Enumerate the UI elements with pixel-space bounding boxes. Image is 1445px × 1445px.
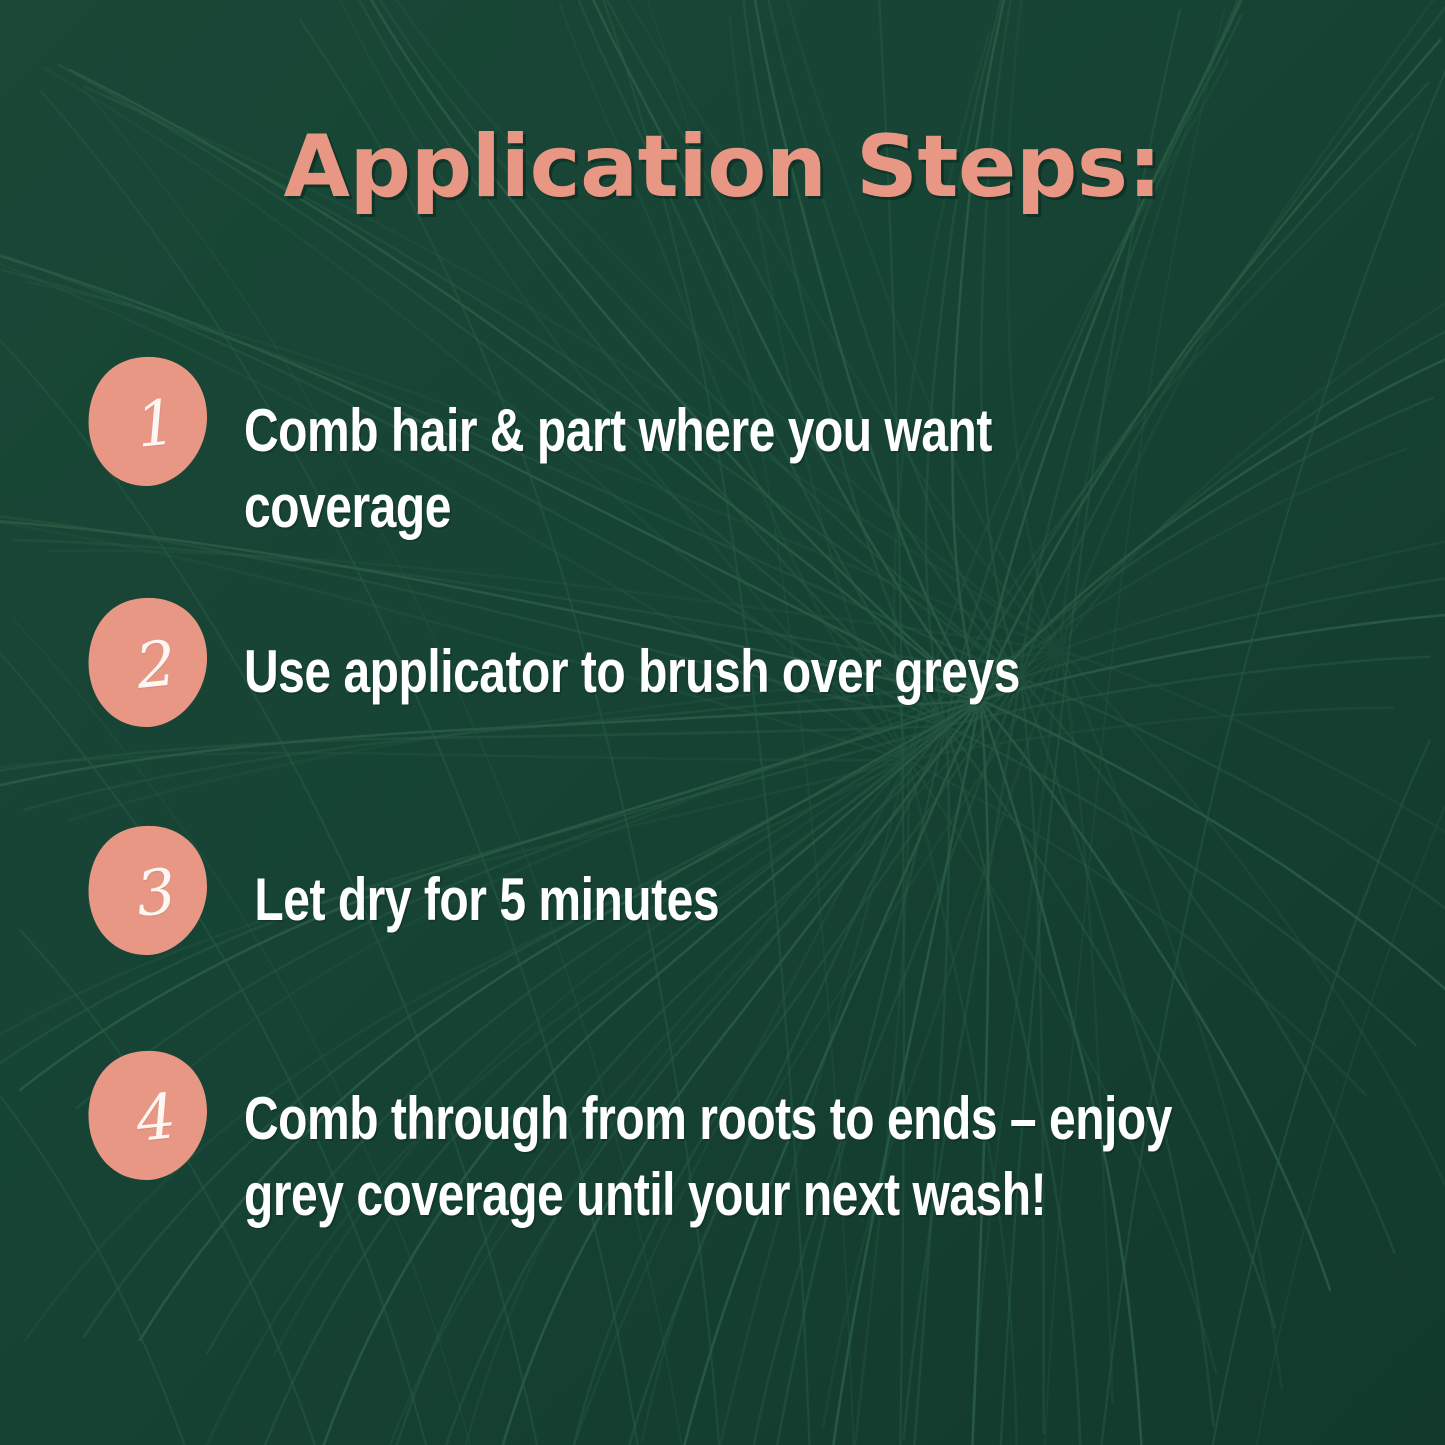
- steps-list: 1 Comb hair & part where you want covera…: [0, 0, 1445, 1445]
- step-item-1: 1 Comb hair & part where you want covera…: [86, 355, 1406, 544]
- step-number-3: 3: [87, 820, 224, 964]
- step-text-3: Let dry for 5 minutes: [244, 824, 1174, 938]
- step-text-4: Comb through from roots to ends – enjoy …: [244, 1049, 1174, 1232]
- step-item-4: 4 Comb through from roots to ends – enjo…: [86, 1049, 1406, 1232]
- step-text-1: Comb hair & part where you want coverage: [244, 355, 1174, 544]
- step-number-badge-1: 1: [86, 355, 210, 487]
- application-steps-graphic: Application Steps: 1 Comb hair & part wh…: [0, 0, 1445, 1445]
- step-text-2: Use applicator to brush over greys: [244, 596, 1174, 710]
- step-number-badge-2: 2: [86, 596, 210, 728]
- step-number-4: 4: [87, 1045, 224, 1189]
- step-number-1: 1: [87, 351, 224, 495]
- step-item-3: 3 Let dry for 5 minutes: [86, 824, 1406, 956]
- step-number-badge-4: 4: [86, 1049, 210, 1181]
- step-number-2: 2: [87, 592, 224, 736]
- step-item-2: 2 Use applicator to brush over greys: [86, 596, 1406, 728]
- step-number-badge-3: 3: [86, 824, 210, 956]
